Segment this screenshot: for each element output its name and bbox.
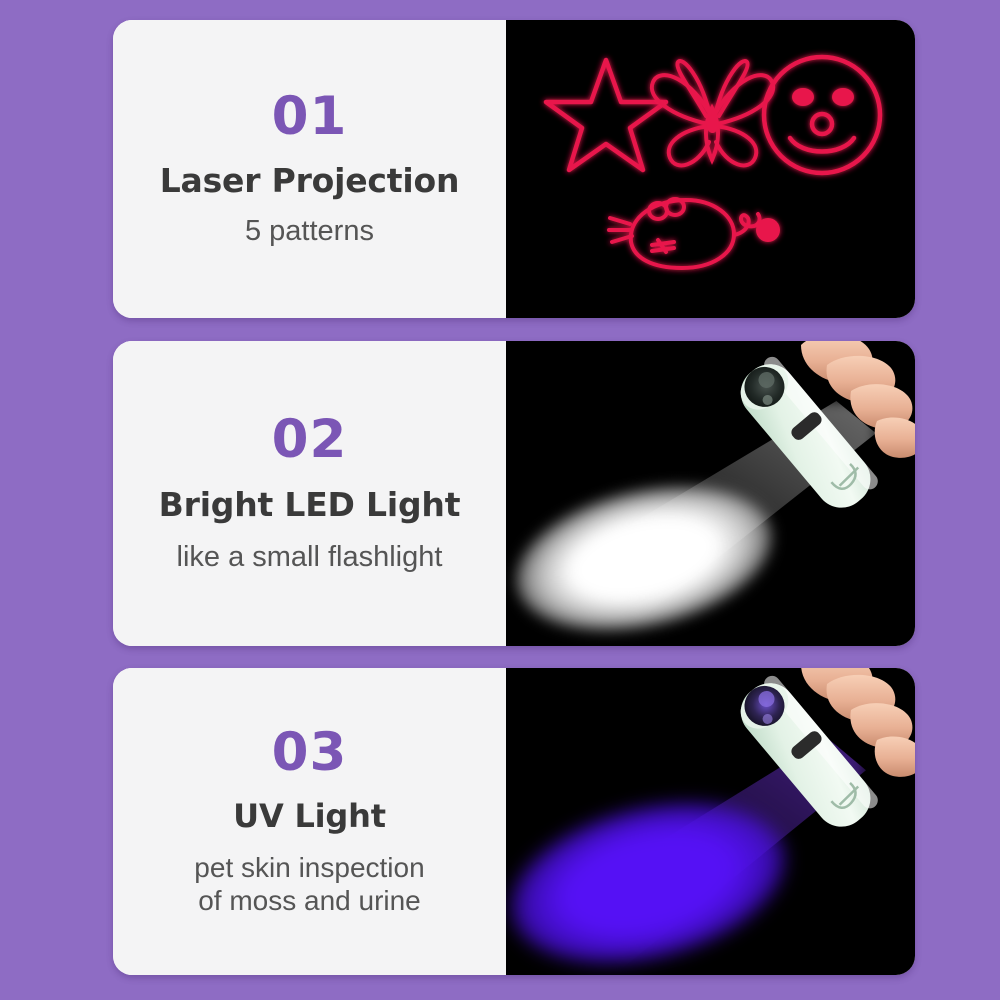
infographic-board: 01 Laser Projection 5 patterns [0, 0, 1000, 1000]
feature-title-02: Bright LED Light [159, 487, 461, 523]
pointer-illustration [681, 341, 915, 527]
feature-card-1-media-panel [506, 20, 915, 318]
feature-card-2-text-panel: 02 Bright LED Light like a small flashli… [113, 341, 506, 646]
feature-card-uv-light: 03 UV Light pet skin inspection of moss … [113, 668, 915, 975]
laser-pointer-device [681, 341, 915, 527]
feature-subtitle-02: like a small flashlight [177, 540, 443, 574]
feature-subtitle-01: 5 patterns [245, 214, 374, 248]
laser-dot-icon [756, 218, 780, 242]
feature-card-2-media-panel [506, 341, 915, 646]
feature-card-3-media-panel [506, 668, 915, 975]
uv-laser-pointer-device [681, 668, 915, 846]
laser-butterfly-icon [652, 61, 773, 165]
feature-subtitle-03: pet skin inspection of moss and urine [194, 851, 424, 917]
feature-number-01: 01 [272, 90, 348, 143]
feature-card-1-text-panel: 01 Laser Projection 5 patterns [113, 20, 506, 318]
laser-mouse-icon [609, 199, 760, 268]
feature-title-03: UV Light [233, 799, 386, 834]
laser-smiley-icon [764, 57, 880, 173]
uv-beam-scene [506, 668, 915, 975]
led-beam-scene [506, 341, 915, 646]
feature-number-02: 02 [272, 413, 348, 466]
laser-star-icon [546, 60, 666, 170]
feature-card-3-text-panel: 03 UV Light pet skin inspection of moss … [113, 668, 506, 975]
feature-number-03: 03 [272, 726, 348, 779]
uv-pointer-illustration [681, 668, 915, 846]
feature-card-laser-projection: 01 Laser Projection 5 patterns [113, 20, 915, 318]
feature-subtitle-03-line-1: pet skin inspection [194, 851, 424, 884]
feature-card-led-light: 02 Bright LED Light like a small flashli… [113, 341, 915, 646]
laser-pattern-group [506, 20, 915, 318]
feature-subtitle-03-line-2: of moss and urine [194, 884, 424, 917]
feature-title-01: Laser Projection [160, 163, 460, 199]
